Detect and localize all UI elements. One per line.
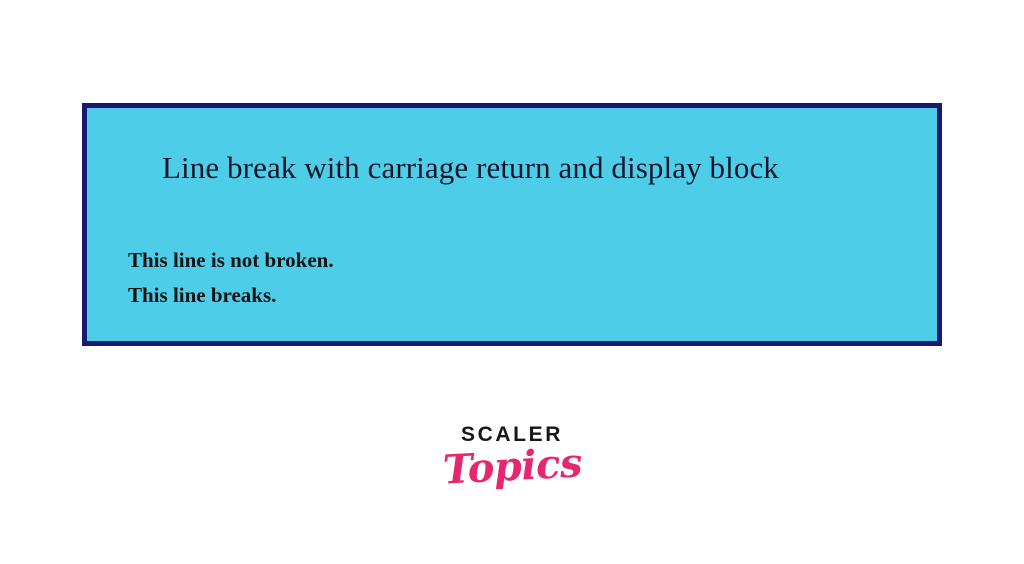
logo-script-topics: Topics (442, 442, 583, 491)
scaler-topics-logo: SCALER Topics (0, 424, 1024, 488)
body-line-2: This line breaks. (128, 278, 334, 313)
demo-body-text: This line is not broken. This line break… (128, 243, 334, 313)
body-line-1: This line is not broken. (128, 243, 334, 278)
demo-card: Line break with carriage return and disp… (82, 103, 942, 346)
demo-heading: Line break with carriage return and disp… (162, 150, 779, 186)
